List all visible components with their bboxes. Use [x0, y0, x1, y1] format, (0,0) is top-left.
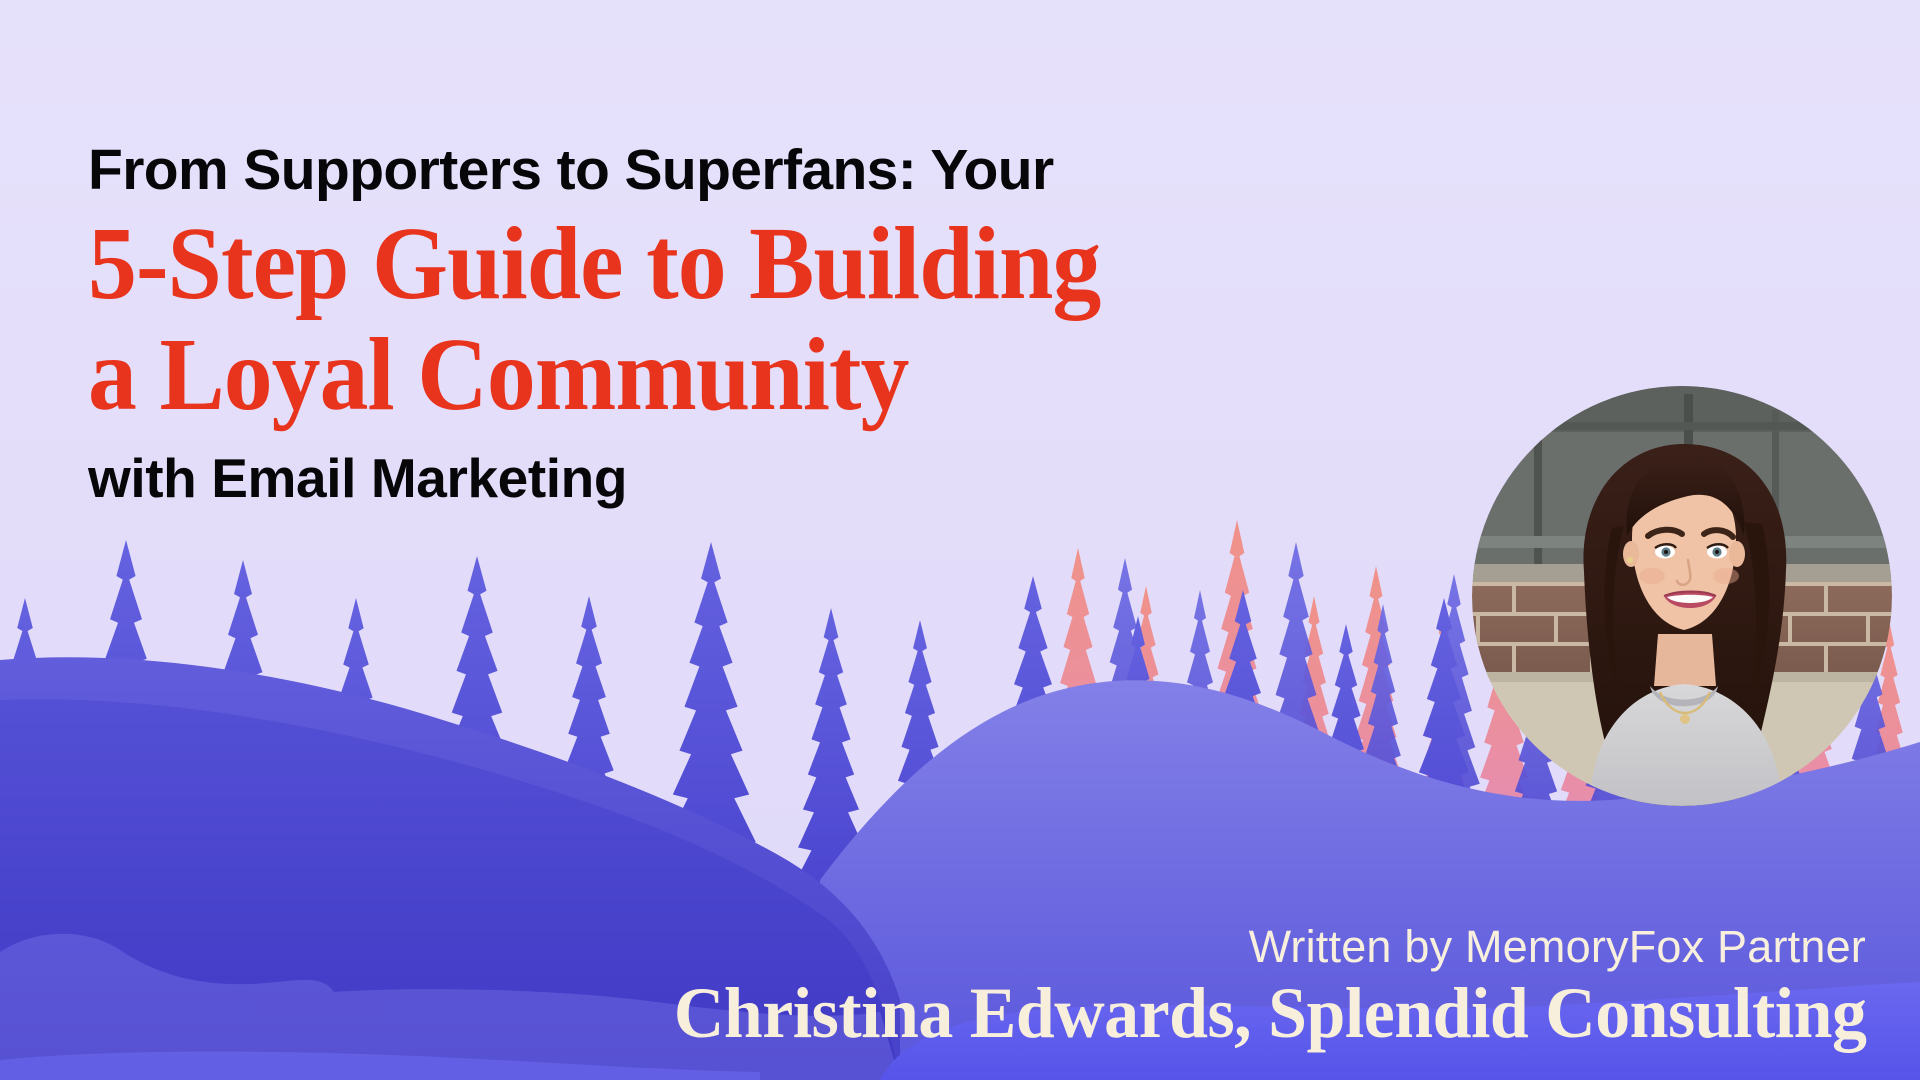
- headline-subline: with Email Marketing: [88, 446, 1428, 510]
- author-credit-block: Written by MemoryFox Partner Christina E…: [637, 922, 1866, 1054]
- headline-title: 5-Step Guide to Building a Loyal Communi…: [88, 208, 1348, 431]
- headline-kicker: From Supporters to Superfans: Your: [88, 140, 1428, 202]
- blog-header-banner: Headshot of Christina Edwards, smiling w…: [0, 0, 1920, 1080]
- headline-block: From Supporters to Superfans: Your 5-Ste…: [88, 140, 1428, 510]
- headline-title-line-2: a Loyal Community: [88, 319, 1348, 430]
- author-prefix: Written by MemoryFox Partner: [637, 922, 1866, 972]
- author-name: Christina Edwards, Splendid Consulting: [673, 973, 1866, 1054]
- headline-title-line-1: 5-Step Guide to Building: [88, 206, 1100, 321]
- author-portrait: Headshot of Christina Edwards, smiling w…: [1472, 386, 1892, 806]
